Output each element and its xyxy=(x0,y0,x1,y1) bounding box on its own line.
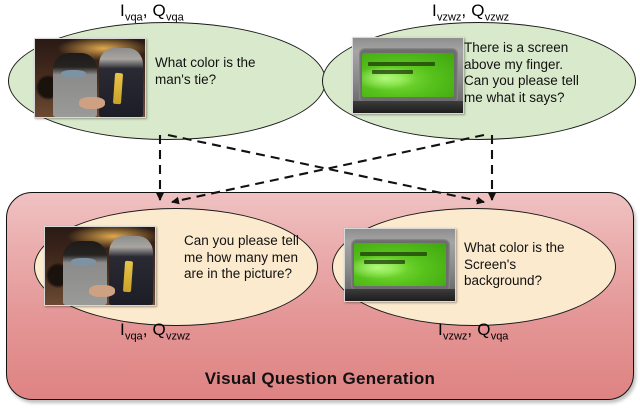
image-subscript: vzwz xyxy=(443,330,467,342)
question-bottom-left: Can you please tell me how many men are … xyxy=(184,233,302,283)
question-subscript: vqa xyxy=(491,330,509,342)
question-top-right: There is a screen above my finger. Can y… xyxy=(464,40,586,106)
screen-bezel xyxy=(351,238,450,291)
image-subscript: vqa xyxy=(125,330,143,342)
question-top-left: What color is the man's tie? xyxy=(155,55,283,88)
screen-bezel xyxy=(359,47,458,103)
question-symbol: Q xyxy=(153,320,166,339)
lcd-display xyxy=(362,53,453,97)
question-symbol: Q xyxy=(471,1,484,20)
device-base xyxy=(353,101,463,113)
lcd-photo-bottom xyxy=(344,228,456,302)
vqg-caption: Visual Question Generation xyxy=(7,369,633,389)
diagram-canvas: Ivqa, Qvqa Ivzwz, Qvzwz Visual Question … xyxy=(0,0,640,408)
device-base xyxy=(345,289,455,301)
image-subscript: vqa xyxy=(125,11,143,23)
question-subscript: vzwz xyxy=(166,330,190,342)
label-top-left: Ivqa, Qvqa xyxy=(120,1,184,23)
handshake-figure xyxy=(79,97,105,109)
lcd-display xyxy=(354,243,445,286)
handshake-photo-top xyxy=(34,38,146,118)
lcd-text-line-1 xyxy=(368,62,435,66)
label-bottom-left: Ivqa, Qvzwz xyxy=(120,320,190,342)
question-symbol: Q xyxy=(477,320,490,339)
lcd-text-line-1 xyxy=(360,252,427,256)
label-top-right: Ivzwz, Qvzwz xyxy=(432,1,509,23)
question-symbol: Q xyxy=(153,1,166,20)
handshake-figure xyxy=(89,285,115,297)
handshake-photo-bottom xyxy=(44,226,156,306)
lcd-text-line-2 xyxy=(372,70,414,74)
lcd-text-line-2 xyxy=(364,260,406,264)
lcd-photo-top xyxy=(352,37,464,114)
question-bottom-right: What color is the Screen's background? xyxy=(464,240,584,290)
label-bottom-right: Ivzwz, Qvqa xyxy=(438,320,508,342)
